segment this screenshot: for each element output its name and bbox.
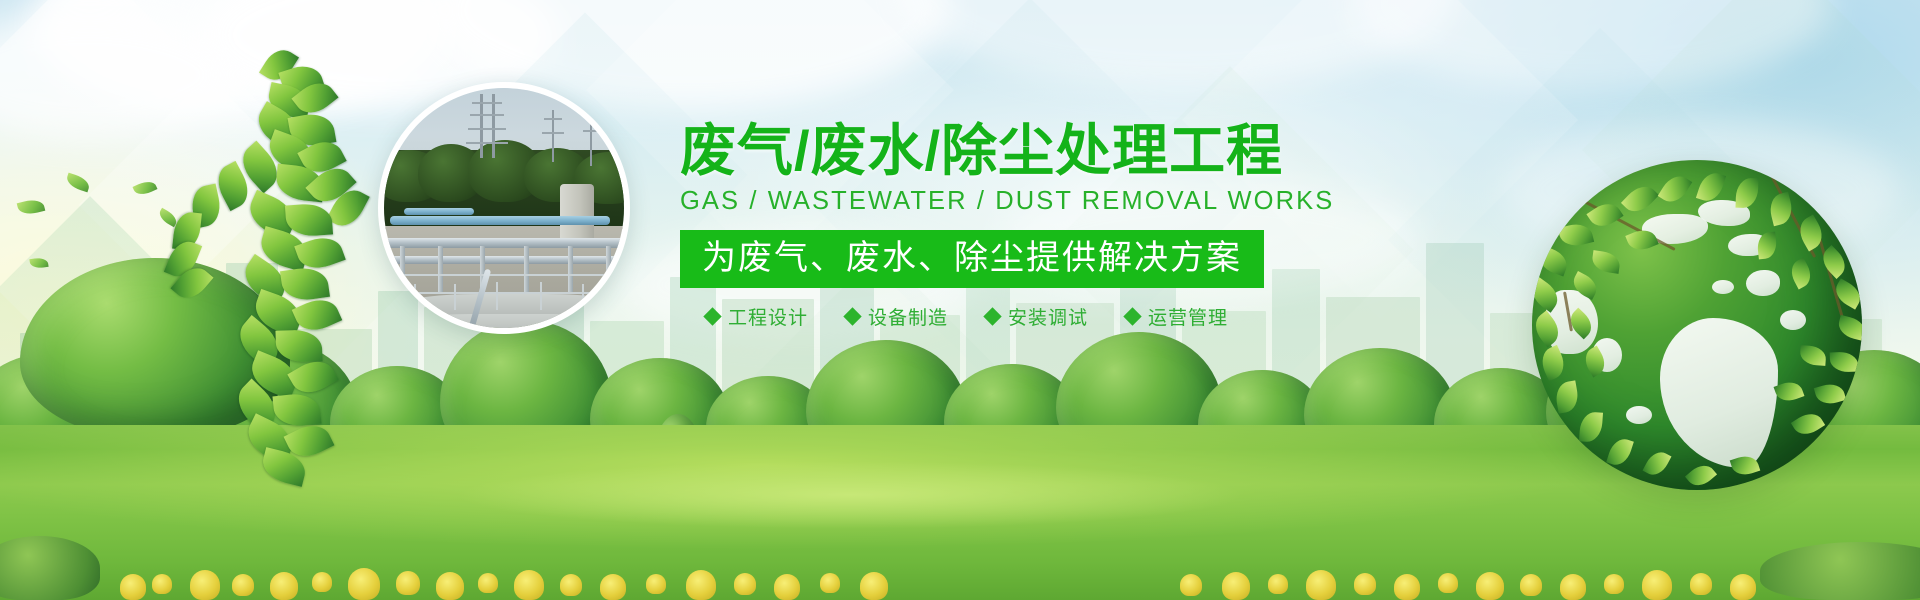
yellow-flowers: [0, 530, 1920, 600]
diamond-bullet-icon: [843, 307, 861, 325]
service-bullet-design[interactable]: 工程设计: [706, 303, 808, 330]
service-bullet-manufacturing[interactable]: 设备制造: [846, 303, 948, 330]
service-bullet-label: 安装调试: [1008, 303, 1088, 330]
service-bullet-label: 工程设计: [728, 303, 808, 330]
service-bullet-operations[interactable]: 运营管理: [1126, 303, 1228, 330]
highlight-bar: 为废气、废水、除尘提供解决方案: [680, 230, 1264, 288]
highlight-bar-text: 为废气、废水、除尘提供解决方案: [702, 238, 1242, 278]
page-title: 废气/废水/除尘处理工程: [680, 120, 1480, 182]
banner-text-block: 废气/废水/除尘处理工程 GAS / WASTEWATER / DUST REM…: [680, 120, 1480, 330]
diamond-bullet-icon: [703, 307, 721, 325]
wastewater-plant-photo: [378, 82, 630, 334]
service-bullet-label: 运营管理: [1148, 303, 1228, 330]
diamond-bullet-icon: [1123, 307, 1141, 325]
leaf-man-figure: [150, 52, 380, 482]
service-bullets: 工程设计 设备制造 安装调试 运营管理: [680, 303, 1480, 330]
service-bullet-label: 设备制造: [868, 303, 948, 330]
diamond-bullet-icon: [983, 307, 1001, 325]
green-leaf-globe: [1532, 160, 1862, 490]
banner-stage: 废气/废水/除尘处理工程 GAS / WASTEWATER / DUST REM…: [0, 0, 1920, 600]
service-bullet-installation[interactable]: 安装调试: [986, 303, 1088, 330]
banner-subtitle: GAS / WASTEWATER / DUST REMOVAL WORKS: [680, 186, 1480, 216]
